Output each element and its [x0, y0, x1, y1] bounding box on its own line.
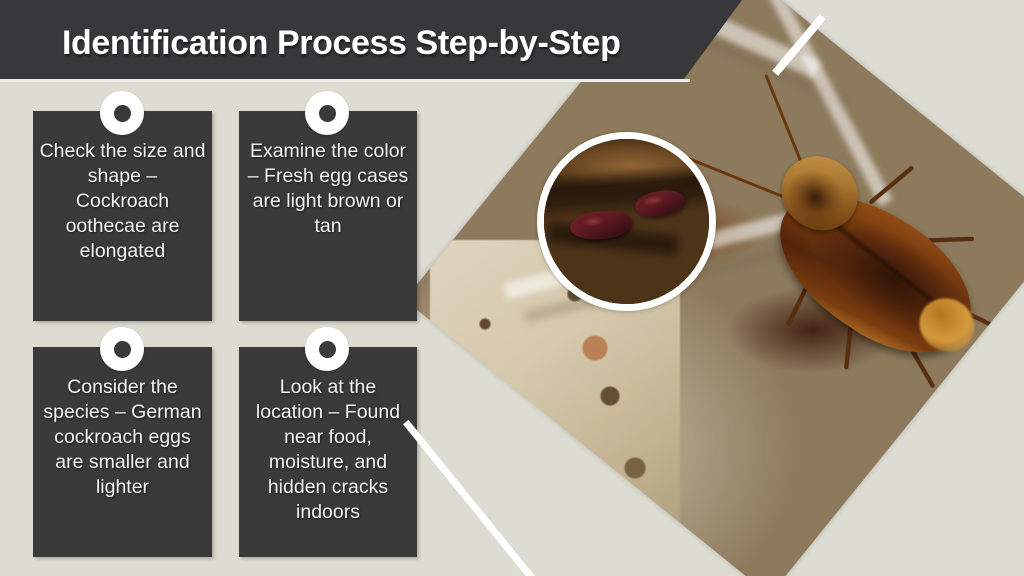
photo-collage	[440, 0, 1024, 576]
infographic-slide: Identification Process Step-by-Step Chec…	[0, 0, 1024, 576]
step-card-1[interactable]: Check the size and shape – Cockroach oot…	[33, 111, 212, 321]
step-card-2-text: Examine the color – Fresh egg cases are …	[245, 139, 411, 239]
ring-bullet-icon	[305, 327, 349, 371]
main-photo-panel	[404, 0, 1024, 576]
main-photo-image	[410, 0, 1024, 576]
ring-bullet-icon	[305, 91, 349, 135]
step-card-2[interactable]: Examine the color – Fresh egg cases are …	[239, 111, 417, 321]
ring-bullet-icon	[100, 91, 144, 135]
ring-bullet-icon	[100, 327, 144, 371]
ootheca-egg-case	[633, 187, 687, 220]
inset-photo-image	[538, 133, 716, 311]
ootheca-inset-photo	[537, 132, 716, 311]
cockroach-leg	[869, 165, 914, 204]
header-underline	[0, 79, 690, 82]
step-card-3-text: Consider the species – German cockroach …	[39, 375, 206, 500]
step-card-4-text: Look at the location – Found near food, …	[245, 375, 411, 525]
step-card-4[interactable]: Look at the location – Found near food, …	[239, 347, 417, 557]
step-card-3[interactable]: Consider the species – German cockroach …	[33, 347, 212, 557]
page-title: Identification Process Step-by-Step	[62, 20, 702, 66]
step-card-1-text: Check the size and shape – Cockroach oot…	[39, 139, 206, 264]
